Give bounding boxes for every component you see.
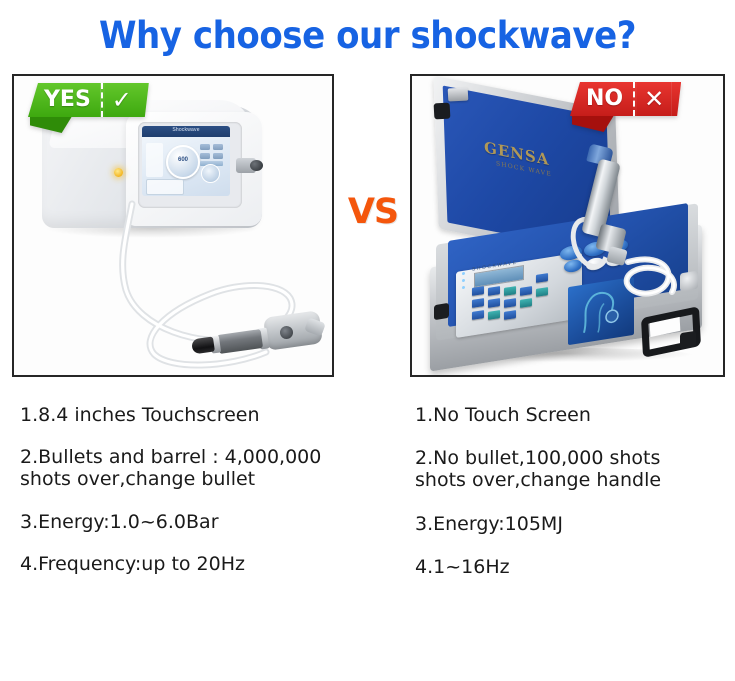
case-corner-protector bbox=[680, 331, 696, 350]
no-badge-label: NO bbox=[570, 82, 633, 116]
spec-item: 2.No bullet,100,000 shots shots over,cha… bbox=[415, 447, 725, 491]
left-spec-list: 1.8.4 inches Touchscreen 2.Bullets and b… bbox=[20, 404, 380, 595]
ribbon-divider bbox=[633, 82, 637, 116]
spec-item: 4.Frequency:up to 20Hz bbox=[20, 553, 380, 575]
cross-icon: ✕ bbox=[637, 82, 671, 116]
yes-badge-label: YES bbox=[28, 83, 101, 117]
no-badge: NO ✕ bbox=[570, 82, 681, 116]
right-product-image: GENSA SHOCK WAVE SHOCKWAVE bbox=[412, 76, 723, 375]
yes-badge: YES ✓ bbox=[28, 83, 149, 117]
right-product-frame: GENSA SHOCK WAVE SHOCKWAVE bbox=[410, 74, 725, 377]
page-title: Why choose our shockwave? bbox=[29, 14, 705, 57]
spec-item: 2.Bullets and barrel : 4,000,000 shots o… bbox=[20, 446, 380, 490]
spec-item: 1.No Touch Screen bbox=[415, 404, 725, 426]
spec-item: 3.Energy:105MJ bbox=[415, 513, 725, 535]
spec-item: 3.Energy:1.0~6.0Bar bbox=[20, 511, 380, 533]
handpiece-tip bbox=[191, 337, 215, 355]
spec-item: 1.8.4 inches Touchscreen bbox=[20, 404, 380, 426]
right-spec-list: 1.No Touch Screen 2.No bullet,100,000 sh… bbox=[415, 404, 725, 599]
ribbon-end bbox=[671, 82, 681, 116]
case-side-latch bbox=[680, 271, 698, 292]
spec-item: 4.1~16Hz bbox=[415, 556, 725, 578]
ribbon-end bbox=[139, 83, 149, 117]
case-corner-protector bbox=[434, 303, 449, 320]
ribbon-divider bbox=[101, 83, 105, 117]
check-icon: ✓ bbox=[105, 83, 139, 117]
vs-label: VS bbox=[338, 192, 408, 232]
